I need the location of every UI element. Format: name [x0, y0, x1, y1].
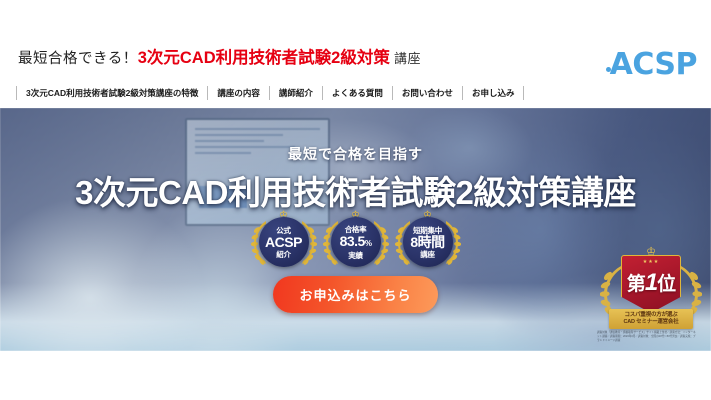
page-title-suffix: 講座 — [390, 51, 421, 66]
hero-title: 3次元CAD利用技術者試験2級対策講座 — [0, 166, 711, 214]
nav-item-contact[interactable]: お問い合わせ — [392, 86, 462, 100]
nav-item-faq[interactable]: よくある質問 — [322, 86, 392, 100]
badge-main-label: 83.5% — [340, 234, 372, 251]
apply-button[interactable]: お申込みはこちら — [273, 276, 437, 313]
badge-bottom-label: 紹介 — [276, 250, 290, 259]
rank-no1-badge: ♔ ★★★ 第1位 コスパ重視の方が選ぶ CAD セミナー運営会社 調査対象「通… — [601, 251, 701, 339]
badge-short-course: ♔ 短期集中 8時間 講座 — [394, 211, 462, 269]
site-header: 最短合格できる！3次元CAD利用技術者試験2級対策 講座 ACSP 3次元CAD… — [0, 0, 711, 108]
nav-item-instructor[interactable]: 講師紹介 — [269, 86, 322, 100]
rank-prefix: 第 — [627, 274, 645, 295]
rank-stars-icon: ★★★ — [643, 259, 659, 265]
badge-pass-rate: ♔ 合格率 83.5% 実績 — [322, 211, 390, 269]
badge-circle: 合格率 83.5% 実績 — [331, 217, 381, 267]
rank-crown-icon: ♔ — [646, 247, 656, 258]
hero-subtitle: 最短で合格を目指す — [0, 144, 711, 164]
badge-main-unit: % — [365, 239, 372, 248]
rank-suffix: 位 — [657, 274, 675, 295]
logo-dot-icon — [606, 67, 611, 72]
badge-circle: 公式 ACSP 紹介 — [259, 217, 309, 267]
rank-fineprint: 調査対象「通信教育・資格取得サービス」サイト掲載上位社／調査方法：インターネット… — [597, 331, 697, 343]
logo-text: ACSP — [610, 47, 697, 82]
rank-label: 第1位 — [601, 269, 701, 297]
badge-main-label: 8時間 — [410, 235, 444, 250]
rank-ribbon-line2: CAD セミナー運営会社 — [623, 319, 678, 326]
rank-number: 1 — [645, 269, 657, 296]
page-title-highlight: 3次元CAD利用技術者試験2級対策 — [138, 49, 390, 67]
landing-page: 最短合格できる！3次元CAD利用技術者試験2級対策 講座 ACSP 3次元CAD… — [0, 0, 711, 400]
acsp-logo[interactable]: ACSP — [605, 50, 697, 80]
badge-main-label: ACSP — [265, 235, 302, 250]
rank-ribbon-line1: コスパ重視の方が選ぶ — [624, 312, 677, 319]
badge-circle: 短期集中 8時間 講座 — [403, 217, 453, 267]
nav-item-contents[interactable]: 講座の内容 — [207, 86, 269, 100]
page-title: 最短合格できる！3次元CAD利用技術者試験2級対策 講座 — [18, 44, 421, 68]
badge-main-value: 83.5 — [340, 233, 365, 249]
badge-official-acsp: ♔ 公式 ACSP 紹介 — [250, 211, 318, 269]
main-navigation: 3次元CAD利用技術者試験2級対策講座の特徴 講座の内容 講師紹介 よくある質問… — [16, 84, 524, 102]
rank-ribbon: コスパ重視の方が選ぶ CAD セミナー運営会社 — [609, 309, 693, 329]
hero-banner: 最短で合格を目指す 3次元CAD利用技術者試験2級対策講座 — [0, 108, 711, 351]
nav-item-apply[interactable]: お申し込み — [462, 86, 525, 100]
page-body-area — [0, 351, 711, 400]
badge-bottom-label: 講座 — [420, 250, 434, 259]
page-title-prefix: 最短合格できる！ — [18, 51, 138, 67]
nav-item-features[interactable]: 3次元CAD利用技術者試験2級対策講座の特徴 — [16, 86, 207, 100]
badge-bottom-label: 実績 — [348, 251, 362, 260]
